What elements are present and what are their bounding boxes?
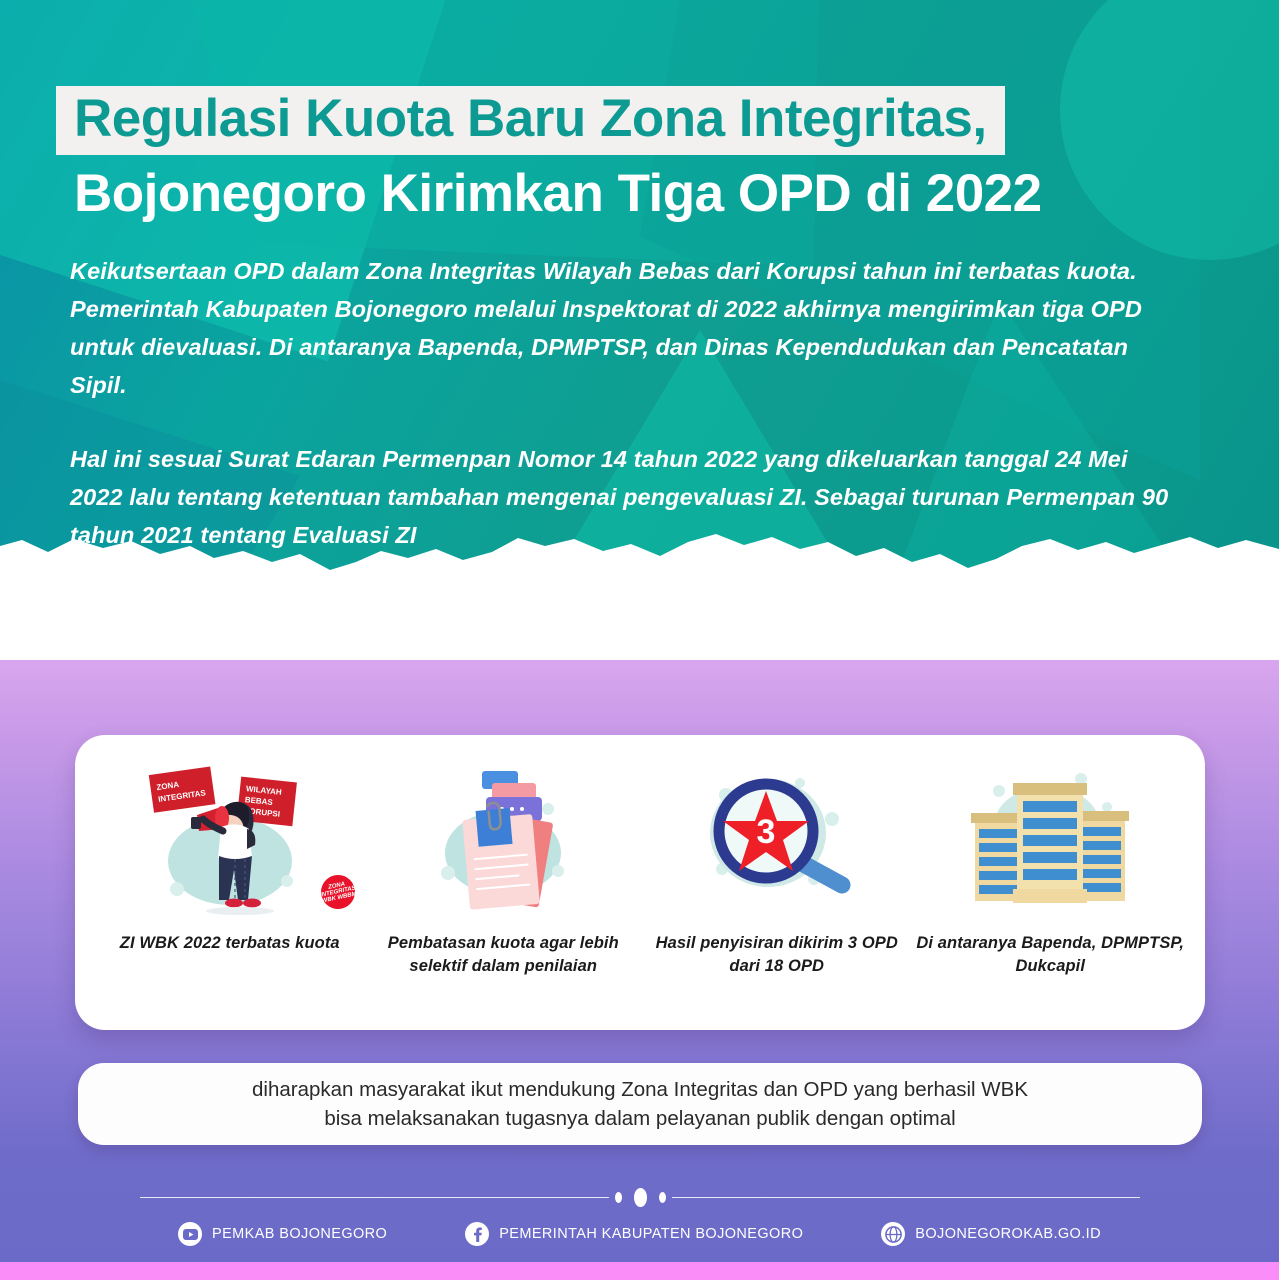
title-line-1: Regulasi Kuota Baru Zona Integritas, (74, 90, 987, 147)
card-caption: Hasil penyisiran dikirim 3 OPD dari 18 O… (640, 932, 914, 978)
youtube-icon (178, 1222, 202, 1246)
paragraph-2: Hal ini sesuai Surat Edaran Permenpan No… (70, 440, 1180, 554)
footer-label-website: BOJONEGOROKAB.GO.ID (915, 1226, 1101, 1242)
quote-line-1: diharapkan masyarakat ikut mendukung Zon… (252, 1078, 1028, 1101)
footer-item-youtube[interactable]: PEMKAB BOJONEGORO (178, 1222, 387, 1246)
card-opd-list: Di antaranya Bapenda, DPMPTSP, Dukcapil (914, 761, 1188, 978)
documents-paperclip-icon (408, 761, 598, 926)
header-section: Regulasi Kuota Baru Zona Integritas, Boj… (0, 0, 1279, 600)
title-line-2: Bojonegoro Kirimkan Tiga OPD di 2022 (74, 165, 1279, 222)
paragraph-1: Keikutsertaan OPD dalam Zona Integritas … (70, 252, 1180, 404)
divider-dot-small-left (615, 1192, 622, 1203)
footer-item-facebook[interactable]: PEMERINTAH KABUPATEN BOJONEGORO (465, 1222, 803, 1246)
card-zi-wbk: ZONA INTEGRITAS WILAYAH BEBAS KORUPSI (93, 761, 367, 955)
footer-divider (140, 1196, 1140, 1199)
divider-line-right (672, 1197, 1141, 1199)
icon-cards-panel: ZONA INTEGRITAS WILAYAH BEBAS KORUPSI (75, 735, 1205, 1030)
closing-statement-box: diharapkan masyarakat ikut mendukung Zon… (78, 1063, 1202, 1145)
intro-paragraphs: Keikutsertaan OPD dalam Zona Integritas … (70, 252, 1180, 554)
card-caption: Di antaranya Bapenda, DPMPTSP, Dukcapil (914, 932, 1188, 978)
office-buildings-icon (955, 761, 1145, 926)
bottom-pink-strip (0, 1262, 1279, 1280)
magnifier-star-icon: 3 (682, 761, 872, 926)
star-number: 3 (756, 813, 775, 851)
footer-label-youtube: PEMKAB BOJONEGORO (212, 1226, 387, 1242)
divider-dot-large (634, 1188, 647, 1207)
megaphone-protest-icon: ZONA INTEGRITAS WILAYAH BEBAS KORUPSI (135, 761, 325, 926)
card-pembatasan-kuota: Pembatasan kuota agar lebih selektif dal… (367, 761, 641, 978)
card-caption: ZI WBK 2022 terbatas kuota (120, 932, 340, 955)
infographic-page: Regulasi Kuota Baru Zona Integritas, Boj… (0, 0, 1279, 1280)
closing-statement-text: diharapkan masyarakat ikut mendukung Zon… (212, 1075, 1068, 1133)
card-caption: Pembatasan kuota agar lebih selektif dal… (367, 932, 641, 978)
footer-label-facebook: PEMERINTAH KABUPATEN BOJONEGORO (499, 1226, 803, 1242)
globe-icon (881, 1222, 905, 1246)
page-title: Regulasi Kuota Baru Zona Integritas, Boj… (0, 86, 1279, 222)
footer-item-website[interactable]: BOJONEGOROKAB.GO.ID (881, 1222, 1101, 1246)
title-highlight-band: Regulasi Kuota Baru Zona Integritas, (56, 86, 1005, 155)
card-hasil-penyisiran: 3 Hasil penyisiran dikirim 3 OPD dari 18… (640, 761, 914, 978)
quote-line-2: bisa melaksanakan tugasnya dalam pelayan… (324, 1107, 955, 1130)
social-footer: PEMKAB BOJONEGORO PEMERINTAH KABUPATEN B… (0, 1222, 1279, 1246)
facebook-icon (465, 1222, 489, 1246)
divider-dot-small-right (659, 1192, 666, 1203)
divider-line-left (140, 1197, 609, 1199)
